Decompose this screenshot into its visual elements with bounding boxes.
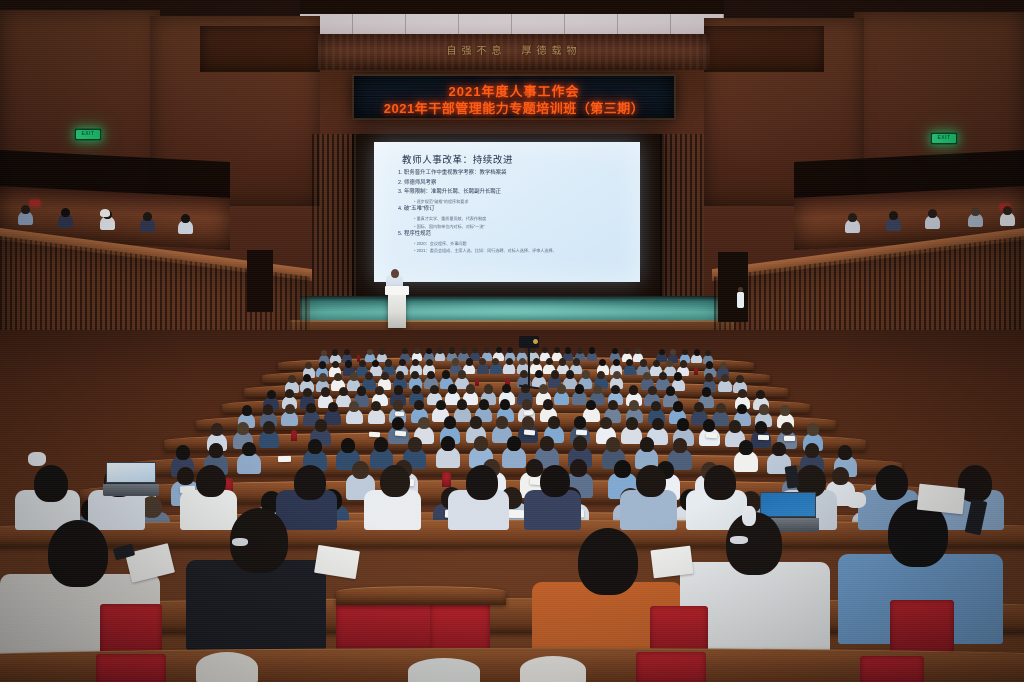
audience-person-head xyxy=(651,401,661,412)
audience-person-head xyxy=(506,358,513,365)
audience-person-head xyxy=(385,359,392,366)
audience-person-head xyxy=(372,360,379,367)
balcony-person-head xyxy=(61,208,70,217)
audience-person-head xyxy=(533,358,540,365)
audience-person-head xyxy=(349,401,359,412)
audience-person-head xyxy=(597,371,605,379)
slide-bullet: 1. 职务晋升工作中重视教学考察：教学档案袋 xyxy=(398,170,632,176)
laptop-screen xyxy=(106,462,156,483)
audience-person-head xyxy=(357,386,366,395)
slide-bullet: 5. 程序性规范 xyxy=(398,231,632,237)
audience-person-head xyxy=(441,436,455,451)
audience-paper xyxy=(650,546,693,579)
audience-person-head xyxy=(379,348,385,354)
camera-tripod xyxy=(528,344,530,388)
audience-person-head xyxy=(721,374,729,382)
projection-screen: 教师人事改革：持续改进 1. 职务晋升工作中重视教学考察：教学档案袋 2. 师德… xyxy=(374,142,640,282)
audience-person-head xyxy=(612,348,618,354)
audience-person-head xyxy=(640,359,647,366)
audience-person-head xyxy=(586,400,596,411)
audience-person-head xyxy=(640,437,654,452)
audience-person-head xyxy=(659,372,667,380)
audience-person-head xyxy=(237,422,249,435)
audience-person-head xyxy=(520,656,586,682)
audience-person-head xyxy=(458,370,466,378)
audience-paper xyxy=(278,456,291,462)
audience-person-head xyxy=(694,349,700,355)
audience-person-head xyxy=(520,370,528,378)
audience-person-head xyxy=(319,361,326,368)
laptop-screen xyxy=(760,492,816,517)
slide-bullet-list: 1. 职务晋升工作中重视教学考察：教学档案袋 2. 师德师风考察 3. 年限限制… xyxy=(398,170,632,256)
hair-tie xyxy=(730,536,748,544)
audience-person-head xyxy=(653,360,660,367)
audience-person-head xyxy=(674,372,682,380)
audience-person-head xyxy=(371,401,381,412)
standing-staff-head xyxy=(738,287,743,292)
audience-person-head xyxy=(34,465,68,502)
seat-cushion xyxy=(694,368,698,375)
slide-subbullet: 国际、国内和单位内对标、对标“一流” xyxy=(414,224,632,230)
led-banner: 2021年度人事工作会 2021年干部管理能力专题培训班（第三期） xyxy=(352,74,676,120)
audience-person-head xyxy=(414,348,420,354)
audience-person-head xyxy=(196,465,226,497)
audience-person-head xyxy=(629,400,639,411)
audience-person-head xyxy=(328,402,338,413)
hair-tie xyxy=(232,538,248,546)
audience-person-head xyxy=(470,416,482,429)
frieze-calligraphy-text: 自强不息 厚德载物 xyxy=(318,42,710,57)
video-camera xyxy=(519,336,539,348)
audience-person-head xyxy=(781,422,793,435)
audience-person-head xyxy=(666,386,675,395)
audience-person-head xyxy=(448,384,457,393)
audience-person-head xyxy=(461,347,467,353)
audience-person-head xyxy=(573,436,587,451)
audience-person-head xyxy=(673,401,683,412)
wall-placard-left xyxy=(30,200,40,206)
audience-person-head xyxy=(548,416,560,429)
audience-person-head xyxy=(706,361,713,368)
audience-person-head xyxy=(613,371,621,379)
side-doorway-right xyxy=(718,252,748,322)
audience-paper xyxy=(758,435,769,440)
audience-person-head xyxy=(582,370,590,378)
balcony-person-head xyxy=(928,209,937,218)
slide-subbullet: 2020：会议程序、外事问题 xyxy=(414,241,632,247)
slide-subbullet: 逐步规范“破格”的程序和要求 xyxy=(414,199,632,205)
audience-person-head xyxy=(466,358,473,365)
audience-person-head xyxy=(614,460,631,478)
audience-person-head xyxy=(466,465,498,500)
exit-sign-right-label: EXIT xyxy=(932,134,956,143)
balcony-person-head xyxy=(848,213,857,222)
audience-person-head xyxy=(652,418,664,431)
audience-person-head xyxy=(589,347,595,353)
audience-person-head xyxy=(500,399,510,410)
audience-person-head xyxy=(177,467,194,485)
audience-person-torso xyxy=(324,410,341,425)
audience-person-head xyxy=(613,359,620,366)
audience-person-head xyxy=(606,437,620,452)
audience-person-cap xyxy=(196,652,258,682)
audience-person-head xyxy=(315,419,327,432)
seat-cushion xyxy=(475,378,479,386)
audience-person-head xyxy=(484,384,493,393)
audience-person-head xyxy=(209,443,223,458)
audience-person-head xyxy=(540,465,570,497)
audience-person-head xyxy=(705,350,711,356)
audience-person-head xyxy=(339,387,348,396)
audience-person-head xyxy=(394,385,403,394)
audience-person-head xyxy=(736,375,744,383)
audience-person-head xyxy=(738,389,747,398)
audience-person-head xyxy=(341,438,355,453)
audience-person-head xyxy=(48,520,108,587)
audience-person-head xyxy=(832,467,849,485)
face-mask xyxy=(28,452,46,466)
audience-person-head xyxy=(565,347,571,353)
audience-person-torso xyxy=(477,364,489,375)
audience-person-head xyxy=(573,358,580,365)
seat-cushion xyxy=(442,472,451,487)
audience-person-head xyxy=(437,347,443,353)
audience-paper xyxy=(369,431,380,437)
audience-person-head xyxy=(359,360,366,367)
audience-person-head xyxy=(308,439,322,454)
audience-person-head xyxy=(332,361,339,368)
audience-person-head xyxy=(430,385,439,394)
seat-cushion xyxy=(291,430,298,442)
audience-person-head xyxy=(807,423,819,436)
audience-person-head xyxy=(466,384,475,393)
audience-laptop xyxy=(106,462,156,496)
audience-person-head xyxy=(559,358,566,365)
audience-person-torso xyxy=(624,365,636,376)
audience-person-head xyxy=(321,350,327,356)
audience-person-head xyxy=(374,437,388,452)
audience-person-head xyxy=(332,349,338,355)
balcony-person-head xyxy=(143,212,152,221)
audience-person-head xyxy=(703,419,715,432)
audience-person-head xyxy=(263,404,273,415)
stage-curtain-right xyxy=(660,134,704,306)
audience-person-head xyxy=(414,400,424,411)
audience-person-head xyxy=(380,465,410,497)
lectern-podium xyxy=(388,288,406,328)
laptop-keyboard xyxy=(103,484,159,496)
balcony-person-head xyxy=(21,205,30,214)
audience-person-head xyxy=(267,390,276,399)
audience-person-head xyxy=(334,373,342,381)
audience-person-head xyxy=(737,404,747,415)
audience-person-head xyxy=(444,416,456,429)
audience-person-head xyxy=(427,371,435,379)
audience-person-head xyxy=(554,347,560,353)
audience-person-head xyxy=(426,348,432,354)
audience-person-head xyxy=(418,417,430,430)
audience-person-head xyxy=(285,389,294,398)
audience-person-head xyxy=(426,359,433,366)
exit-sign-right: EXIT xyxy=(930,132,958,145)
seat-cushion-bottom xyxy=(636,652,706,682)
audience-person-head xyxy=(629,385,638,394)
audience-person-head xyxy=(636,465,666,497)
audience-person-head xyxy=(412,385,421,394)
audience-person-head xyxy=(759,404,769,415)
audience-person-head xyxy=(577,347,583,353)
audience-person-head xyxy=(484,347,490,353)
audience-person-head xyxy=(729,420,741,433)
audience-person-head xyxy=(408,658,480,682)
audience-person-head xyxy=(350,372,358,380)
audience-person-head xyxy=(393,400,403,411)
audience-person-head xyxy=(242,405,252,416)
balcony-person-head xyxy=(1003,206,1012,215)
slide-bullet: 3. 年限限制：准聘升长聘、长聘副升长聘正 xyxy=(398,189,632,195)
audience-person-head xyxy=(412,359,419,366)
audience-person-head xyxy=(396,371,404,379)
audience-paper xyxy=(524,430,535,436)
slide-title: 教师人事改革：持续改进 xyxy=(402,152,513,166)
audience-person-head xyxy=(294,465,326,500)
audience-person-head xyxy=(566,370,574,378)
balcony-person-head xyxy=(889,211,898,220)
audience-person-head xyxy=(263,421,275,434)
stage-backdrop-glow xyxy=(310,300,714,320)
audience-person-head xyxy=(578,528,638,595)
audience-person-head xyxy=(557,384,566,393)
audience-person-head xyxy=(522,416,534,429)
carved-calligraphy-frieze: 自强不息 厚德载物 xyxy=(318,34,710,70)
audience-person-head xyxy=(716,403,726,414)
audience-person-head xyxy=(677,418,689,431)
audience-person-head xyxy=(551,370,559,378)
audience-person-head xyxy=(303,388,312,397)
balcony-person-cap xyxy=(100,209,110,217)
audience-person-head xyxy=(449,347,455,353)
audience-person-head xyxy=(540,436,554,451)
audience-person-head xyxy=(702,387,711,396)
face-mask xyxy=(846,492,866,508)
audience-person-head xyxy=(659,349,665,355)
audience-person-head xyxy=(522,399,532,410)
audience-person-head xyxy=(457,399,467,410)
audience-person-head xyxy=(600,417,612,430)
audience-person-head xyxy=(288,375,296,383)
audience-person-head xyxy=(780,405,790,416)
audience-paper xyxy=(783,436,794,441)
slide-bullet: 2. 师德师风考察 xyxy=(398,180,632,186)
audience-person-head xyxy=(285,404,295,415)
seat-cushion-bottom xyxy=(860,656,924,682)
audience-paper xyxy=(917,484,965,515)
audience-paper xyxy=(395,431,406,437)
slide-subbullet: 重真才实学、重质量贡献、代表作制度 xyxy=(414,216,632,222)
audience-person-head xyxy=(381,372,389,380)
auditorium-photo: 自强不息 厚德载物 2021年度人事工作会 2021年干部管理能力专题培训班（第… xyxy=(0,0,1024,682)
audience-person-head xyxy=(673,438,687,453)
audience-person-head xyxy=(624,348,630,354)
audience-person-head xyxy=(352,461,369,479)
audience-person-head xyxy=(772,442,786,457)
audience-person-head xyxy=(694,402,704,413)
audience-person-head xyxy=(720,362,727,369)
audience-person-head xyxy=(211,423,223,436)
frieze-panel-left xyxy=(200,26,320,72)
exit-sign-left-label: EXIT xyxy=(76,130,100,139)
stage-curtain-left xyxy=(312,134,356,306)
audience-person-head xyxy=(574,416,586,429)
audience-person-head xyxy=(242,442,256,457)
audience-person-head xyxy=(345,360,352,367)
audience-person-head xyxy=(436,400,446,411)
side-doorway-left xyxy=(247,250,273,312)
frieze-panel-right xyxy=(704,26,824,72)
audience-person-head xyxy=(507,436,521,451)
audience-person-head xyxy=(479,399,489,410)
audience-person-head xyxy=(319,373,327,381)
audience-person-torso xyxy=(186,560,326,650)
audience-person-head xyxy=(756,390,765,399)
audience-person-head xyxy=(570,459,587,477)
balcony-person-head xyxy=(971,207,980,216)
led-banner-line-2: 2021年干部管理能力专题培训班（第三期） xyxy=(354,98,674,117)
audience-person-head xyxy=(575,384,584,393)
speaker-head xyxy=(391,269,399,278)
seat-cushion-bottom xyxy=(96,654,166,682)
audience-person-head xyxy=(321,387,330,396)
audience-person-head xyxy=(408,437,422,452)
standing-staff-member xyxy=(737,292,744,308)
audience-person-head xyxy=(496,416,508,429)
audience-person-head xyxy=(755,421,767,434)
audience-person-head xyxy=(805,443,819,458)
audience-person-head xyxy=(876,465,908,500)
audience-person-head xyxy=(539,384,548,393)
audience-person-torso xyxy=(490,363,502,374)
audience-person-head xyxy=(739,440,753,455)
audience-person-head xyxy=(399,359,406,366)
audience-person-head xyxy=(496,347,502,353)
audience-person-head xyxy=(648,386,657,395)
audience-person-head xyxy=(608,400,618,411)
audience-person-head xyxy=(546,358,553,365)
slide-subbullet: 2021：委员会组成、主席人选、比如：同行选聘、对标人选择、评审人选择、 xyxy=(414,248,632,254)
audience-person-head xyxy=(176,445,190,460)
audience-person-torso xyxy=(503,363,515,374)
audience-person-head xyxy=(442,370,450,378)
audience-person-head xyxy=(593,385,602,394)
balcony-person-head xyxy=(181,214,190,223)
face-mask xyxy=(742,506,756,526)
audience-person-head xyxy=(680,360,687,367)
empty-seat-frame xyxy=(336,586,506,605)
audience-person-head xyxy=(452,358,459,365)
audience-person-head xyxy=(626,417,638,430)
exit-sign-left: EXIT xyxy=(74,128,102,141)
audience-person-head xyxy=(392,417,404,430)
audience-person-head xyxy=(838,445,852,460)
slide-bullet: 4. 破“五唯”修订 xyxy=(398,206,632,212)
audience-person-torso xyxy=(718,380,732,392)
audience-person-head xyxy=(543,399,553,410)
audience-person-head xyxy=(705,373,713,381)
audience-person-head xyxy=(305,362,312,369)
audience-person-head xyxy=(474,436,488,451)
audience-person-head xyxy=(704,465,736,500)
